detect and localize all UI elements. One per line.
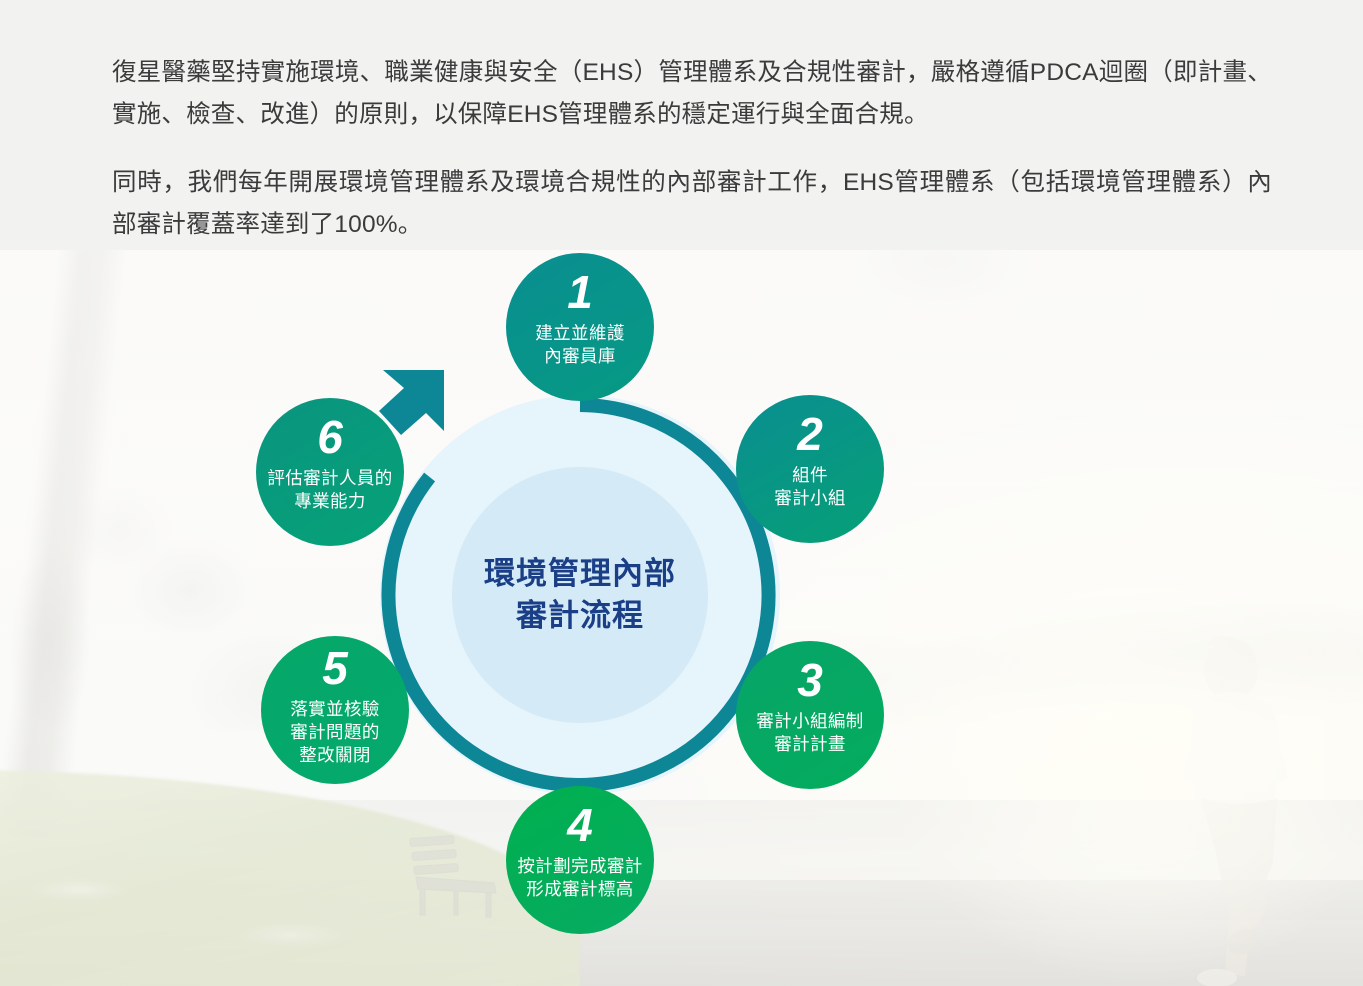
cycle-node-6-label: 評估審計人員的 專業能力 — [267, 467, 392, 513]
paragraph-1: 復星醫藥堅持實施環境、職業健康與安全（EHS）管理體系及合規性審計，嚴格遵循PD… — [112, 52, 1272, 136]
cycle-arrowhead — [379, 370, 444, 435]
cycle-node-3[interactable]: 3 審計小組編制 審計計畫 — [736, 641, 884, 789]
cycle-node-4-label: 按計劃完成審計 形成審計標高 — [517, 855, 642, 901]
inner-disc — [452, 467, 708, 723]
cycle-node-1-number: 1 — [567, 269, 593, 315]
cycle-node-4-number: 4 — [567, 802, 593, 848]
photo-jogger — [1155, 636, 1325, 986]
cycle-node-5[interactable]: 5 落實並核驗 審計問題的 整改關閉 — [261, 636, 409, 784]
cycle-node-6[interactable]: 6 評估審計人員的 專業能力 — [256, 398, 404, 546]
intro-text-block: 復星醫藥堅持實施環境、職業健康與安全（EHS）管理體系及合規性審計，嚴格遵循PD… — [112, 52, 1272, 247]
cycle-node-3-label: 審計小組編制 審計計畫 — [756, 710, 863, 756]
cycle-node-1-label: 建立並維護 內審員庫 — [535, 322, 625, 368]
cycle-node-2-number: 2 — [797, 411, 823, 457]
cycle-node-6-number: 6 — [317, 414, 343, 460]
cycle-node-1[interactable]: 1 建立並維護 內審員庫 — [506, 253, 654, 401]
cycle-node-5-label: 落實並核驗 審計問題的 整改關閉 — [290, 698, 380, 767]
page-root: 復星醫藥堅持實施環境、職業健康與安全（EHS）管理體系及合規性審計，嚴格遵循PD… — [0, 0, 1363, 986]
cycle-node-3-number: 3 — [797, 657, 823, 703]
cycle-node-2[interactable]: 2 組件 審計小組 — [736, 395, 884, 543]
audit-cycle-diagram: 環境管理內部 審計流程 1 建立並維護 內審員庫 2 組件 審計小組 3 審計小… — [230, 245, 930, 945]
cycle-node-5-number: 5 — [322, 645, 348, 691]
cycle-node-4[interactable]: 4 按計劃完成審計 形成審計標高 — [506, 786, 654, 934]
paragraph-2: 同時，我們每年開展環境管理體系及環境合規性的內部審計工作，EHS管理體系（包括環… — [112, 162, 1272, 246]
cycle-node-2-label: 組件 審計小組 — [774, 464, 846, 510]
